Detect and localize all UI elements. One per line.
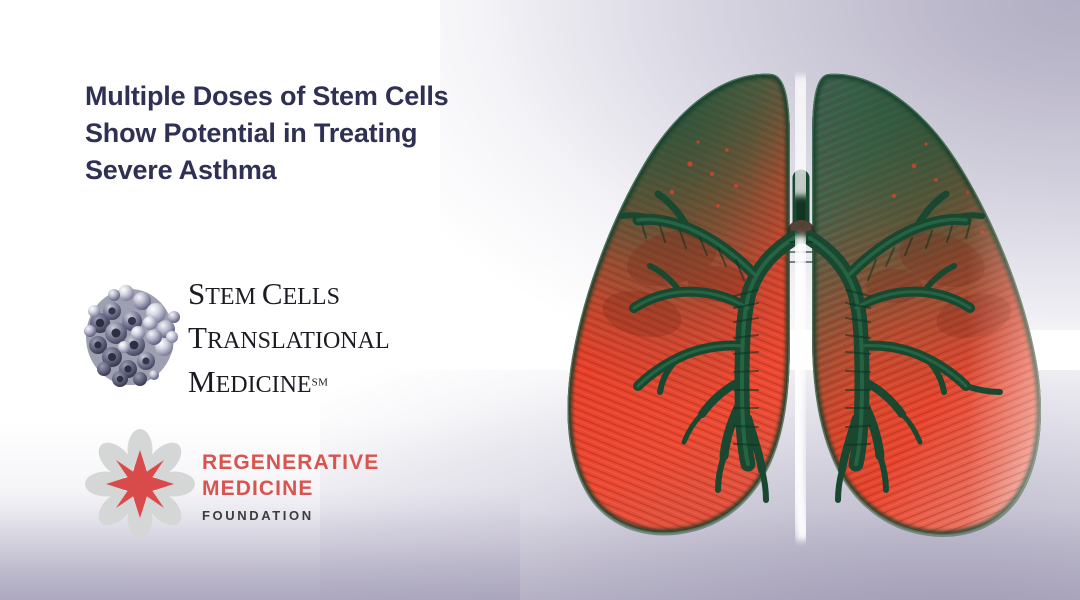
page-title: Multiple Doses of Stem Cells Show Potent… <box>85 78 555 189</box>
poster-canvas: Multiple Doses of Stem Cells Show Potent… <box>0 0 1080 600</box>
headline-line-3: Severe Asthma <box>85 152 555 189</box>
sctm-line-1: STEM CELLS <box>188 275 390 319</box>
regenerative-medicine-foundation-logo[interactable]: REGENERATIVE MEDICINE FOUNDATION <box>84 428 414 538</box>
sctm-line-3: MEDICINESM <box>188 363 390 407</box>
flower-icon <box>84 428 196 540</box>
headline-line-2: Show Potential in Treating <box>85 115 555 152</box>
rmf-line-3: FOUNDATION <box>202 505 379 527</box>
mediastinum <box>797 76 804 540</box>
rmf-line-1: REGENERATIVE <box>202 450 379 476</box>
sctm-wordmark: STEM CELLS TRANSLATIONAL MEDICINESM <box>188 275 390 407</box>
stem-cells-translational-medicine-logo[interactable]: STEM CELLS TRANSLATIONAL MEDICINESM <box>78 277 478 399</box>
cell-cluster-icon <box>78 279 186 395</box>
headline-line-1: Multiple Doses of Stem Cells <box>85 78 555 115</box>
rmf-wordmark: REGENERATIVE MEDICINE FOUNDATION <box>202 450 379 527</box>
human-lungs-illustration <box>522 46 1078 546</box>
rmf-line-2: MEDICINE <box>202 476 379 502</box>
service-mark: SM <box>312 377 329 389</box>
sctm-line-2: TRANSLATIONAL <box>188 319 390 363</box>
